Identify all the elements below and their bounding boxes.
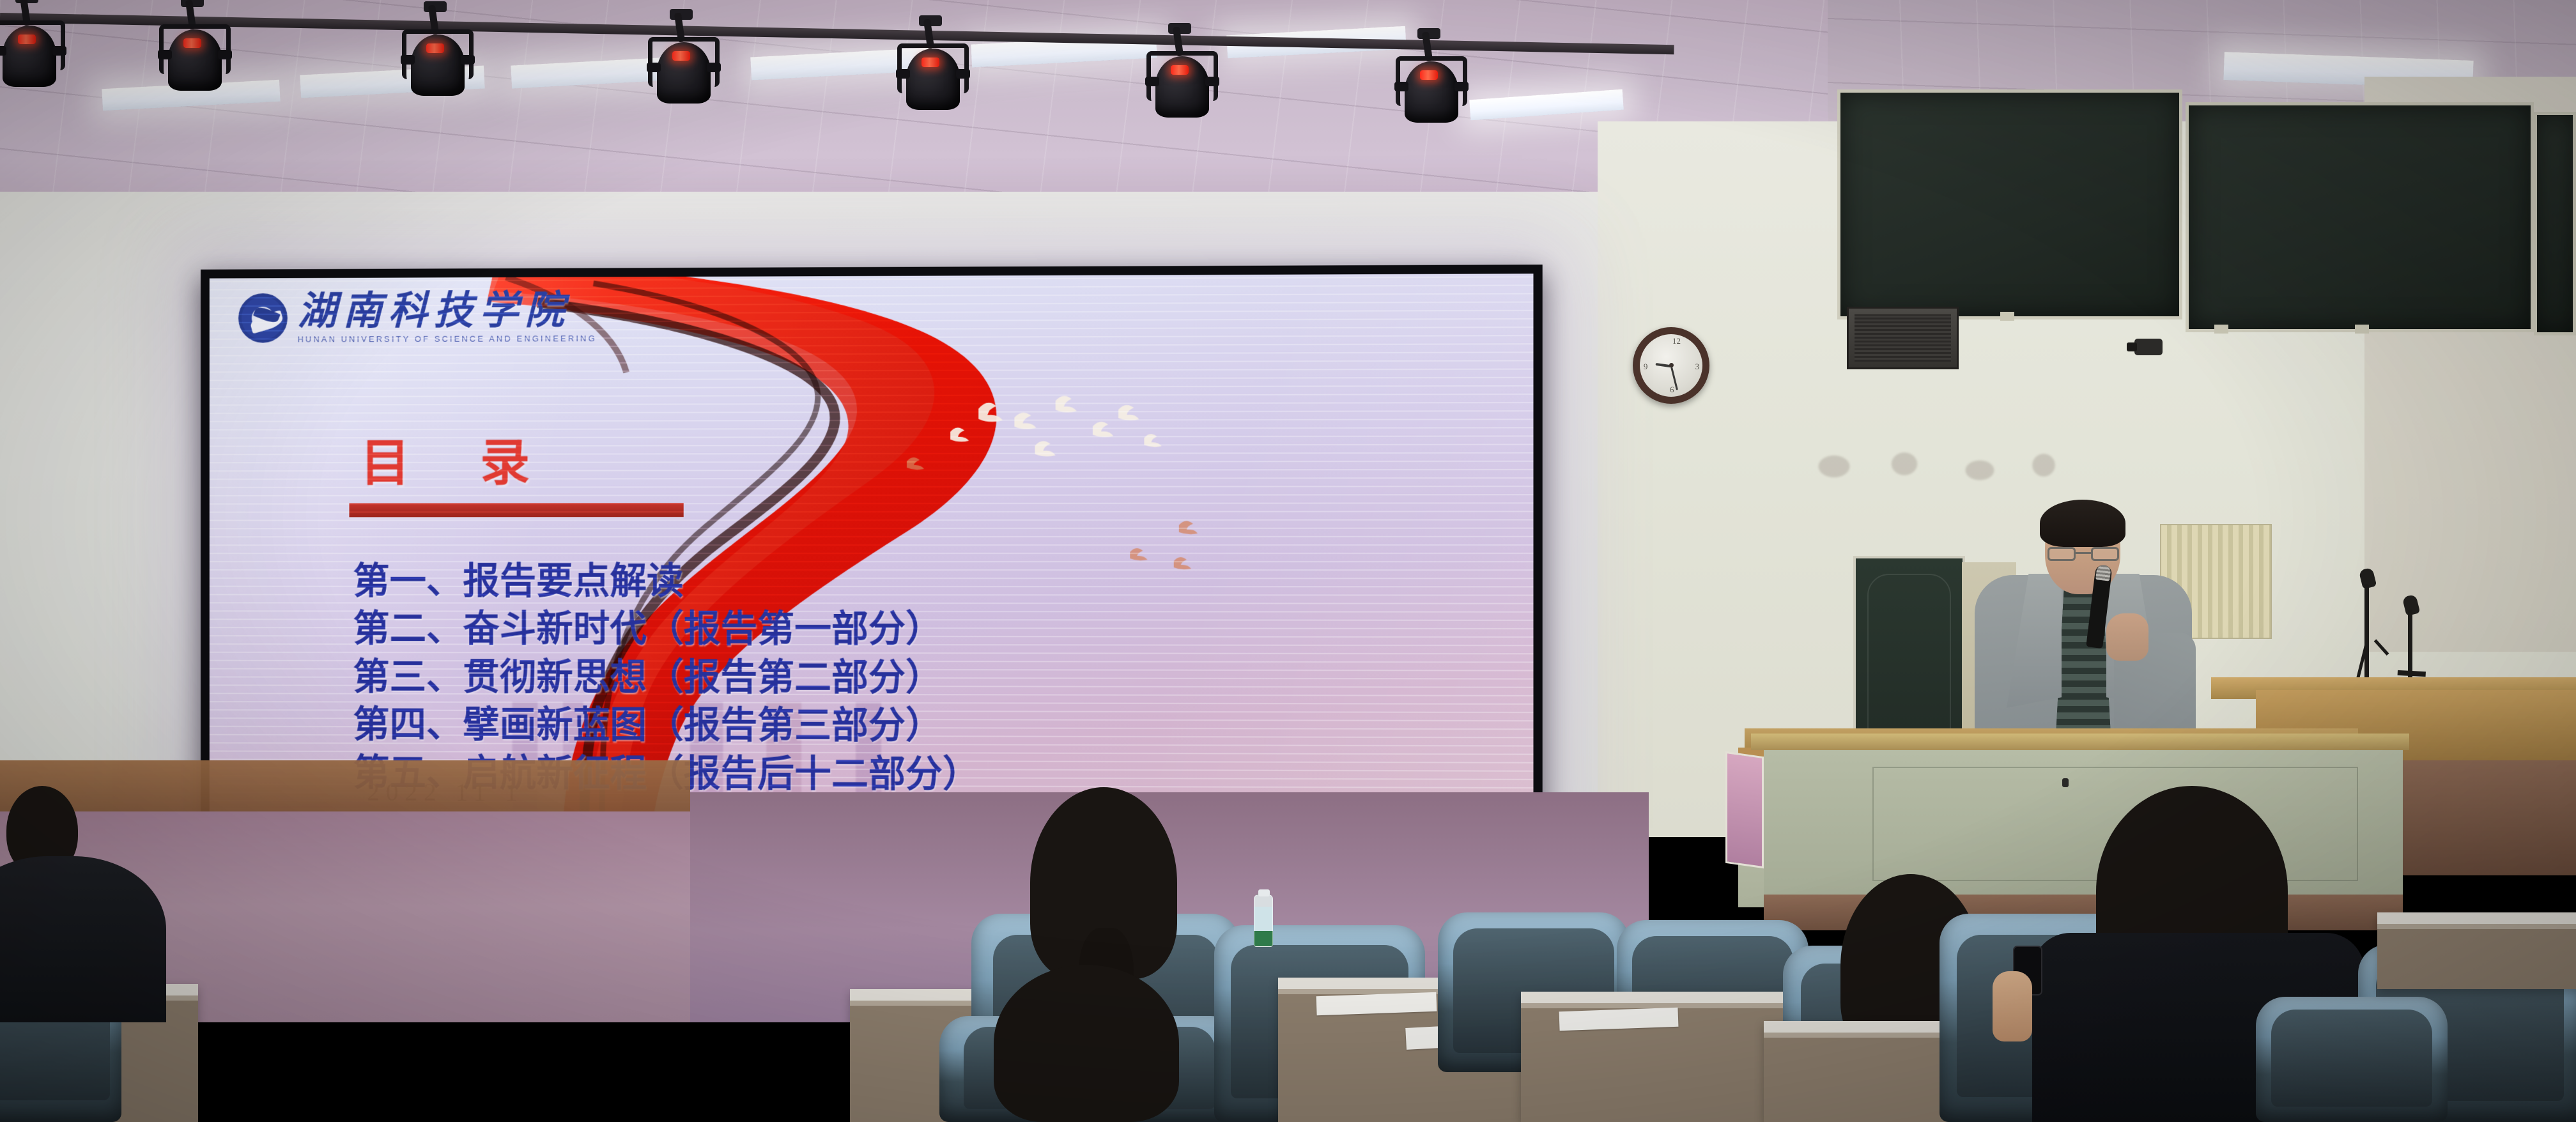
stage-light: [157, 10, 233, 90]
stage-light: [0, 6, 68, 86]
presenter-hair: [2040, 500, 2125, 547]
stage-edge-trim: [1751, 734, 2409, 750]
university-name-cn: 湖南科技学院: [298, 291, 597, 331]
water-bottle: [1254, 895, 1273, 947]
confidence-monitor: [1725, 751, 1764, 868]
toc-item: 第二、奋斗新时代（报告第一部分）: [353, 605, 980, 654]
stage-light: [1144, 37, 1221, 117]
toc-item: 第一、报告要点解读: [353, 557, 980, 606]
lecture-hall-photo: 12 3 6 9: [0, 0, 2576, 1122]
chalkboard: [1837, 89, 2182, 319]
stage-light: [645, 23, 722, 103]
slide-title: 目 录: [360, 424, 559, 495]
stage-panel-knob: [2062, 778, 2069, 787]
stage-door[interactable]: [1853, 556, 1965, 748]
audience-desk: [2377, 912, 2576, 989]
university-name-en: HUNAN UNIVERSITY OF SCIENCE AND ENGINEER…: [298, 334, 597, 344]
university-logo: 湖南科技学院 HUNAN UNIVERSITY OF SCIENCE AND E…: [238, 291, 597, 344]
chalkboard: [2186, 102, 2534, 332]
presenter-glasses: [2048, 547, 2119, 561]
stage-light: [399, 15, 476, 95]
hand-holding-phone: [1993, 971, 2032, 1041]
audience-shoulders: [0, 856, 166, 1022]
audience-chair: [2256, 997, 2448, 1122]
wall-calligraphy-decor: [1809, 434, 2077, 505]
stage-light: [895, 29, 971, 109]
stage-light: [1393, 42, 1470, 122]
microphone-stand: [2352, 569, 2390, 684]
chalkboard: [2534, 112, 2576, 335]
audience-head: [994, 965, 1179, 1122]
toc-item: 第三、贯彻新思想（报告第二部分）: [353, 653, 980, 702]
wall-wainscot: [0, 760, 690, 818]
wall-clock: 12 3 6 9: [1633, 327, 1709, 404]
stage-front-panel: [1764, 750, 2403, 900]
security-camera: [2134, 339, 2163, 355]
presenter-hand: [2106, 613, 2148, 661]
title-underline-rule: [349, 503, 683, 517]
toc-item: 第四、擘画新蓝图（报告第三部分）: [353, 701, 980, 750]
wall-speaker: [1847, 307, 1959, 369]
university-emblem-icon: [238, 293, 288, 343]
